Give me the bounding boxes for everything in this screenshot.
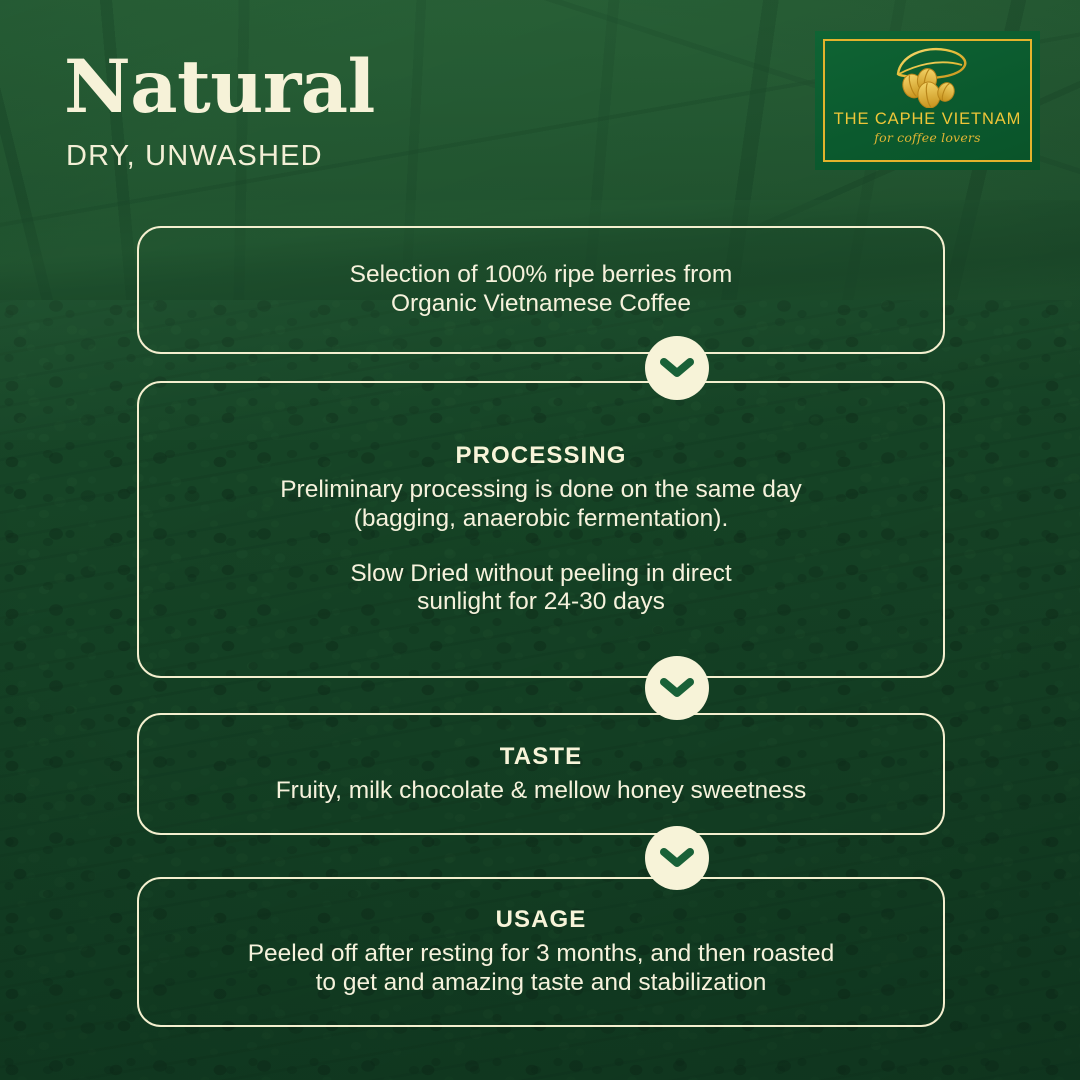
chevron-down-glyph [660, 847, 694, 869]
flow-step-usage[interactable]: USAGE Peeled off after resting for 3 mon… [137, 877, 945, 1027]
page-title: Natural [64, 52, 375, 124]
flow-step-body-extra: Slow Dried without peeling in direct sun… [350, 560, 731, 618]
flow-step-body: Peeled off after resting for 3 months, a… [248, 940, 835, 998]
flow-step-body: Selection of 100% ripe berries from Orga… [350, 261, 733, 319]
flow-step-processing[interactable]: PROCESSING Preliminary processing is don… [137, 381, 945, 678]
flow-step-selection[interactable]: Selection of 100% ripe berries from Orga… [137, 226, 945, 354]
brand-logo[interactable]: THE CAPHE VIETNAM for coffee lovers [815, 31, 1040, 170]
poster-canvas: Natural DRY, UNWASHED [0, 0, 1080, 1080]
coffee-beans-leaf-icon [880, 46, 976, 108]
flow-step-heading: TASTE [500, 743, 582, 771]
logo-tagline: for coffee lovers [874, 130, 980, 145]
logo-brand-name: THE CAPHE VIETNAM [834, 110, 1022, 129]
chevron-down-glyph [660, 677, 694, 699]
flow-step-heading: PROCESSING [455, 442, 626, 470]
flow-step-taste[interactable]: TASTE Fruity, milk chocolate & mellow ho… [137, 713, 945, 835]
chevron-down-glyph [660, 357, 694, 379]
chevron-down-icon [645, 656, 709, 720]
page-subtitle: DRY, UNWASHED [66, 140, 323, 173]
chevron-down-icon [645, 826, 709, 890]
flow-step-body: Fruity, milk chocolate & mellow honey sw… [276, 777, 807, 806]
chevron-down-icon [645, 336, 709, 400]
logo-frame: THE CAPHE VIETNAM for coffee lovers [823, 39, 1032, 162]
flow-step-body: Preliminary processing is done on the sa… [280, 476, 802, 534]
flow-step-heading: USAGE [496, 906, 587, 934]
